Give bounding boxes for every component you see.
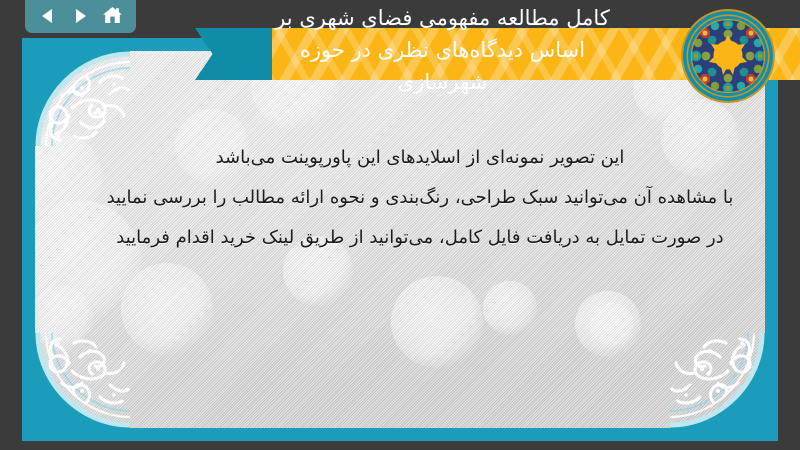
slide-navigation-bar <box>25 0 136 33</box>
persian-arabesque-corner-icon <box>670 333 778 441</box>
page-title: کامل مطالعه مفهومی فضای شهری بر اساس دید… <box>195 2 690 98</box>
bokeh-circle <box>483 281 537 335</box>
slide-viewer: این تصویر نمونه‌ای از اسلایدهای این پاور… <box>0 0 800 450</box>
islamic-rosette-medallion-icon <box>679 7 777 105</box>
title-line: اساس دیدگاه‌های نظری در حوزه <box>195 34 690 66</box>
persian-arabesque-corner-icon <box>22 333 130 441</box>
previous-slide-button[interactable] <box>37 6 59 26</box>
bokeh-circle <box>391 276 483 368</box>
bokeh-circle <box>590 303 634 347</box>
slide-body-text: این تصویر نمونه‌ای از اسلایدهای این پاور… <box>62 138 778 258</box>
body-line: در صورت تمایل به دریافت فایل کامل، می‌تو… <box>62 218 778 258</box>
title-line: شهرسازی <box>195 66 690 98</box>
body-line: این تصویر نمونه‌ای از اسلایدهای این پاور… <box>62 138 778 178</box>
title-line: کامل مطالعه مفهومی فضای شهری بر <box>195 2 690 34</box>
body-line: با مشاهده آن می‌توانید سبک طراحی، رنگ‌بن… <box>62 178 778 218</box>
next-slide-button[interactable] <box>69 6 91 26</box>
bokeh-circle <box>121 263 213 355</box>
home-button[interactable] <box>102 6 124 26</box>
